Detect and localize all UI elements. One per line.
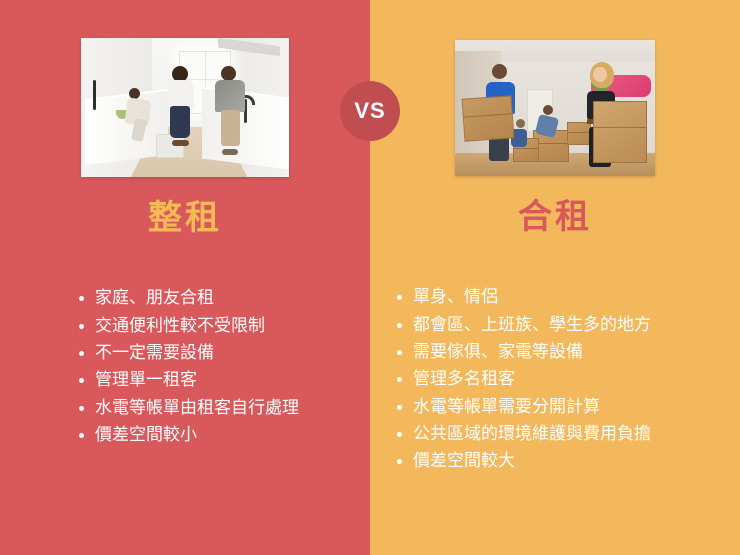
adult2-body: [215, 80, 245, 112]
list-item: 需要傢俱、家電等設備: [396, 339, 730, 365]
list-item: 公共區域的環境維護與費用負擔: [396, 421, 730, 447]
moving-scene: [455, 40, 655, 176]
panel-whole-rental: 整租 家庭、朋友合租 交通便利性較不受限制 不一定需要設備 管理單一租客 水電等…: [0, 0, 370, 555]
person-adult-at-sink: [214, 66, 251, 155]
left-panel-title: 整租: [148, 201, 222, 235]
adult-legs: [170, 106, 190, 138]
vs-badge: VS: [340, 81, 400, 141]
kitchen-scene: [81, 38, 289, 177]
adult2-legs: [221, 110, 240, 146]
adult-body: [167, 80, 194, 110]
list-item: 交通便利性較不受限制: [78, 313, 358, 339]
list-item: 單身、情侶: [396, 284, 730, 310]
man-head: [492, 64, 507, 79]
cardboard-box: [593, 101, 647, 163]
person-background-bending: [535, 105, 561, 146]
adult2-shoe: [222, 149, 238, 155]
person-adult-standing: [164, 66, 199, 147]
adult2-head: [221, 66, 236, 81]
comparison-slide: 整租 家庭、朋友合租 交通便利性較不受限制 不一定需要設備 管理單一租客 水電等…: [0, 0, 740, 555]
right-panel-title: 合租: [518, 200, 592, 234]
left-bullet-list: 家庭、朋友合租 交通便利性較不受限制 不一定需要設備 管理單一租客 水電等帳單由…: [0, 285, 370, 449]
list-item: 管理單一租客: [78, 367, 358, 393]
family-kitchen-photo: [81, 38, 289, 177]
cardboard-box: [462, 95, 515, 141]
list-item: 都會區、上班族、學生多的地方: [396, 312, 730, 338]
list-item: 價差空間較大: [396, 448, 730, 474]
bg-person-body: [534, 114, 558, 138]
adult-shoe: [172, 140, 189, 146]
list-item: 管理多名租客: [396, 366, 730, 392]
list-item: 水電等帳單需要分開計算: [396, 394, 730, 420]
list-item: 水電等帳單由租客自行處理: [78, 395, 358, 421]
list-item: 家庭、朋友合租: [78, 285, 358, 311]
right-bullet-list: 單身、情侶 都會區、上班族、學生多的地方 需要傢俱、家電等設備 管理多名租客 水…: [370, 284, 740, 475]
person-child: [125, 88, 156, 138]
bg-person-head: [543, 105, 553, 115]
list-item: 不一定需要設備: [78, 340, 358, 366]
roommates-moving-boxes-photo: [455, 40, 655, 176]
list-item: 價差空間較小: [78, 422, 358, 448]
panel-shared-rental: 合租 單身、情侶 都會區、上班族、學生多的地方 需要傢俱、家電等設備 管理多名租…: [370, 0, 740, 555]
